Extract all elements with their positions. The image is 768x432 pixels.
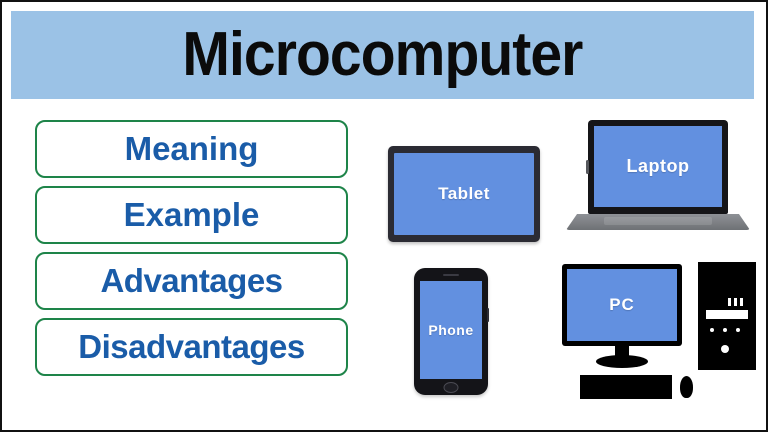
pc-icon: PC (558, 262, 758, 402)
phone-home-button-icon (444, 382, 459, 393)
phone-screen: Phone (420, 281, 482, 379)
pc-tower-led-icons (710, 328, 740, 332)
pc-tower-vents-icon (728, 298, 748, 306)
phone-speaker-icon (443, 274, 459, 276)
pc-tower-power-button-icon (721, 345, 729, 353)
pc-tower-drive-icon (706, 310, 748, 319)
header-bar: Microcomputer (11, 11, 754, 99)
nav-box-disadvantages[interactable]: Disadvantages (35, 318, 348, 376)
laptop-keyboard (604, 217, 712, 225)
pc-label: PC (609, 295, 635, 315)
nav-label-example: Example (124, 198, 260, 232)
laptop-screen: Laptop (594, 126, 722, 207)
phone-label: Phone (428, 322, 473, 338)
pc-mouse-icon (680, 376, 693, 398)
tablet-icon: Tablet (388, 146, 540, 242)
pc-keyboard-icon (580, 375, 672, 399)
nav-column: Meaning Example Advantages Disadvantages (35, 120, 348, 384)
phone-icon: Phone (414, 268, 488, 395)
nav-label-disadvantages: Disadvantages (78, 330, 304, 364)
pc-monitor: PC (562, 264, 682, 346)
pc-monitor-screen: PC (567, 269, 677, 341)
page-title: Microcomputer (182, 24, 582, 86)
slide-canvas: Microcomputer Meaning Example Advantages… (0, 0, 768, 432)
nav-label-advantages: Advantages (100, 264, 282, 298)
tablet-label: Tablet (438, 184, 490, 204)
laptop-hinge-icon (586, 160, 589, 174)
phone-side-button-icon (487, 308, 489, 322)
laptop-icon: Laptop (562, 120, 754, 242)
pc-tower-icon (698, 262, 756, 370)
pc-monitor-base (596, 355, 648, 368)
nav-box-meaning[interactable]: Meaning (35, 120, 348, 178)
nav-box-advantages[interactable]: Advantages (35, 252, 348, 310)
laptop-label: Laptop (627, 156, 690, 177)
tablet-screen: Tablet (394, 153, 534, 235)
nav-label-meaning: Meaning (125, 132, 259, 166)
nav-box-example[interactable]: Example (35, 186, 348, 244)
device-illustrations: Tablet Laptop Phone (362, 106, 762, 426)
laptop-lid: Laptop (588, 120, 728, 214)
